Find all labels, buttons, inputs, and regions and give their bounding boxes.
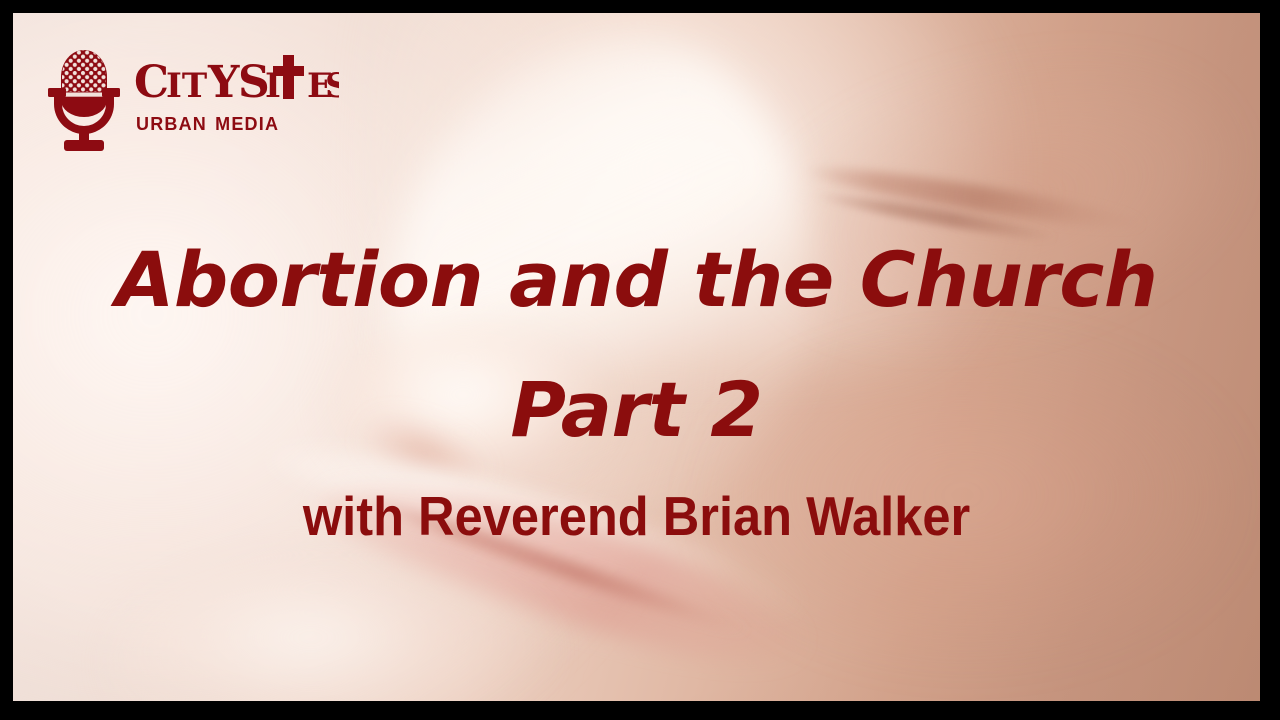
svg-text:IT: IT — [166, 66, 207, 106]
logo-wordmark: C IT Y S I E S Urban Media — [134, 55, 339, 135]
retro-microphone-icon — [40, 30, 128, 158]
logo-tagline: Urban Media — [136, 110, 339, 135]
citysites-logo: C IT Y S I E S Urban Media — [40, 30, 339, 158]
svg-text:C: C — [134, 57, 168, 108]
video-title-card: C IT Y S I E S Urban Media — [0, 0, 1280, 720]
logo-brand-citysites: C IT Y S I E S — [134, 55, 339, 109]
video-frame: C IT Y S I E S Urban Media — [13, 13, 1260, 701]
svg-text:Y: Y — [207, 57, 240, 108]
svg-text:S: S — [325, 66, 339, 106]
